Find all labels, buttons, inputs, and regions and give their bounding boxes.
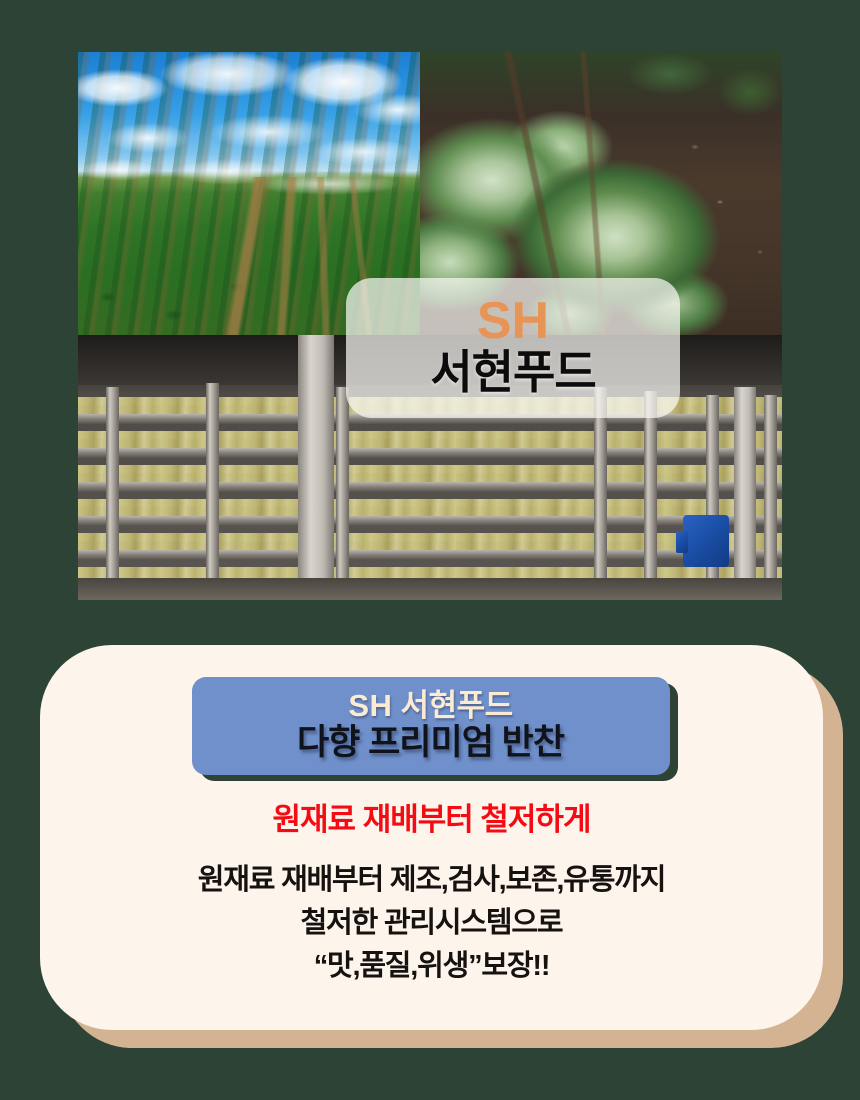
drive-motor — [683, 515, 729, 567]
logo-brand-name: 서현푸드 — [430, 349, 595, 395]
rack-post — [706, 395, 719, 600]
rack-post — [594, 387, 607, 600]
produce-layer — [78, 431, 782, 448]
banner-brand-name: 서현푸드 — [401, 688, 513, 723]
logo-mark-sh: SH — [477, 297, 549, 346]
rack-post — [106, 387, 119, 600]
support-pillar — [298, 335, 334, 600]
rack-post — [644, 391, 657, 600]
card-body-line-3: “맛,품질,위생”보장!! — [198, 945, 665, 988]
rack-shelf — [78, 516, 782, 526]
banner-line-two: 다향 프리미엄 반찬 — [297, 724, 564, 763]
card-body-line-1: 원재료 재배부터 제조,검사,보존,유통까지 — [198, 859, 665, 902]
produce-layer — [78, 499, 782, 516]
rack-post — [206, 383, 219, 600]
rack-shelf — [78, 482, 782, 492]
rack-post — [336, 387, 349, 600]
brand-banner: SH 서현푸드 다향 프리미엄 반찬 — [192, 677, 670, 775]
support-pillar — [734, 387, 756, 600]
info-card: SH 서현푸드 다향 프리미엄 반찬 원재료 재배부터 철저하게 원재료 재배부… — [40, 645, 823, 1030]
photo-collage: SH 서현푸드 — [78, 52, 782, 600]
produce-layer — [78, 465, 782, 482]
card-body-text: 원재료 재배부터 제조,검사,보존,유통까지 철저한 관리시스템으로 “맛,품질… — [198, 859, 665, 988]
brand-banner-wrapper: SH 서현푸드 다향 프리미엄 반찬 — [192, 677, 672, 777]
info-card-wrapper: SH 서현푸드 다향 프리미엄 반찬 원재료 재배부터 철저하게 원재료 재배부… — [40, 645, 840, 1050]
brand-logo-overlay: SH 서현푸드 — [346, 278, 680, 418]
factory-floor — [78, 578, 782, 600]
rack-post — [764, 395, 777, 600]
banner-line-one: SH 서현푸드 — [348, 689, 512, 724]
rack-shelf — [78, 448, 782, 458]
banner-mark-sh: SH — [348, 688, 392, 723]
card-body-line-2: 철저한 관리시스템으로 — [198, 902, 665, 945]
card-headline: 원재료 재배부터 철저하게 — [273, 803, 591, 837]
drive-motor-shaft — [676, 531, 688, 553]
